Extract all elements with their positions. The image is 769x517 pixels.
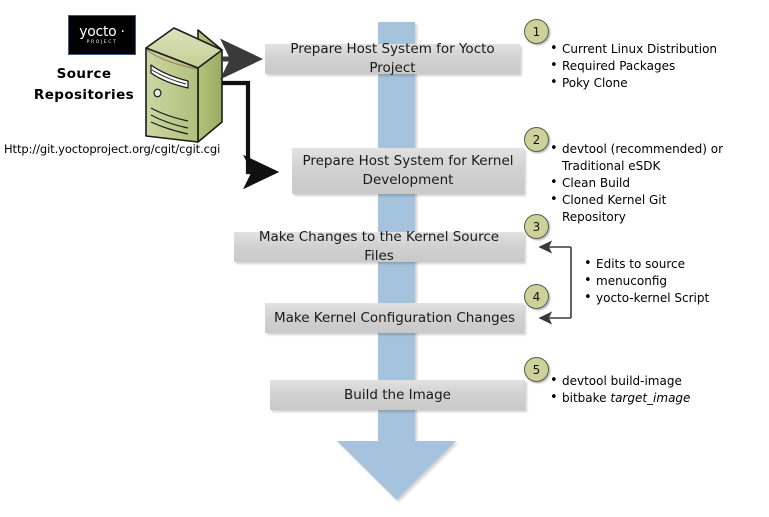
step-circle-4-number: 4 [533, 290, 541, 304]
source-repositories-label: Source Repositories [24, 64, 144, 106]
note-item: Poky Clone [549, 75, 764, 92]
yocto-project-logo: yocto · PROJECT [68, 15, 136, 55]
note-item: devtool (recommended) or Traditional eSD… [549, 141, 729, 175]
logo-sub-text: PROJECT [87, 41, 118, 46]
note-item: Clean Build [549, 175, 729, 192]
step-circle-5-number: 5 [533, 363, 541, 377]
note-item: yocto-kernel Script [583, 290, 763, 307]
process-box-step-1-label: Prepare Host System for Yocto Project [273, 40, 512, 78]
source-label-line2: Repositories [24, 85, 144, 106]
notes-step-1: Current Linux Distribution Required Pack… [549, 41, 764, 92]
notes-step-2: devtool (recommended) or Traditional eSD… [549, 141, 729, 226]
note-item: devtool build-image [549, 373, 749, 390]
step-circle-2-number: 2 [533, 133, 541, 147]
step-circle-1-number: 1 [533, 25, 541, 39]
step-circle-1: 1 [524, 19, 549, 44]
step-circle-3-number: 3 [533, 220, 541, 234]
notes-steps-3-and-4: Edits to source menuconfig yocto-kernel … [583, 256, 763, 307]
process-box-step-2[interactable]: Prepare Host System for Kernel Developme… [292, 148, 524, 194]
process-box-step-5-label: Build the Image [344, 386, 451, 405]
server-tower-icon [130, 24, 228, 146]
source-label-line1: Source [24, 64, 144, 85]
note-item: menuconfig [583, 273, 763, 290]
logo-main-text: yocto · [79, 25, 124, 39]
note-item: Cloned Kernel Git Repository [549, 192, 729, 226]
process-box-step-4[interactable]: Make Kernel Configuration Changes [265, 303, 524, 333]
diagram-canvas: yocto · PROJECT Source Repositories Http… [0, 0, 769, 517]
note-item: bitbake target_image [549, 390, 749, 407]
process-box-step-1[interactable]: Prepare Host System for Yocto Project [265, 44, 520, 74]
process-box-step-3-label: Make Changes to the Kernel Source Files [242, 228, 516, 266]
note-item: Edits to source [583, 256, 763, 273]
note-item-text: bitbake [562, 391, 610, 405]
note-item-emphasis: target_image [610, 391, 690, 405]
step-circle-4: 4 [524, 284, 549, 309]
process-box-step-4-label: Make Kernel Configuration Changes [274, 309, 515, 328]
process-box-step-2-label: Prepare Host System for Kernel Developme… [300, 152, 516, 190]
step-circle-5: 5 [524, 357, 549, 382]
process-box-step-5[interactable]: Build the Image [270, 380, 525, 410]
note-item: Required Packages [549, 58, 764, 75]
process-box-step-3[interactable]: Make Changes to the Kernel Source Files [234, 232, 524, 262]
note-item: Current Linux Distribution [549, 41, 764, 58]
notes-step-5: devtool build-image bitbake target_image [549, 373, 749, 407]
step-circle-2: 2 [524, 127, 549, 152]
step-circle-3: 3 [524, 214, 549, 239]
